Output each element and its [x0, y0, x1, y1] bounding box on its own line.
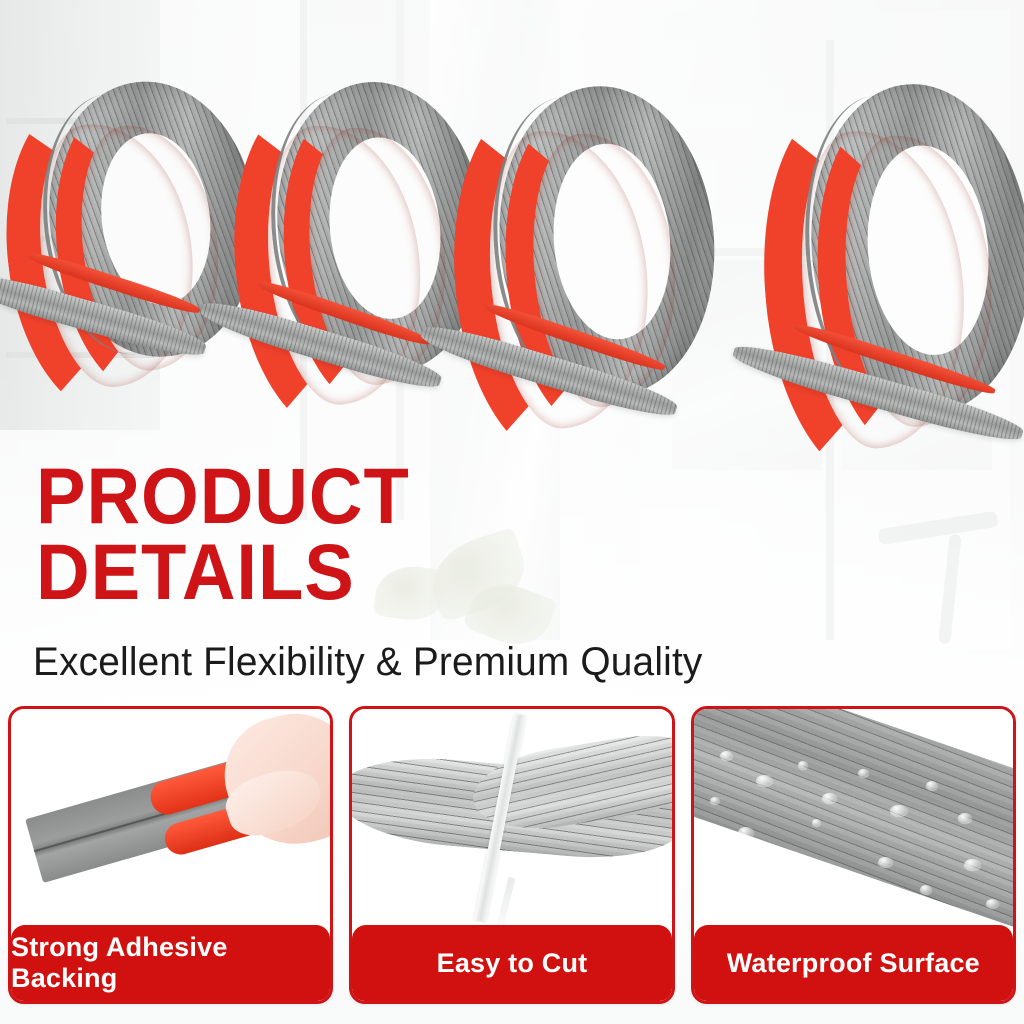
water-droplet: [958, 813, 972, 823]
water-droplet: [782, 851, 801, 863]
water-droplet: [964, 859, 981, 870]
product-details-infographic: PRODUCT DETAILS Excellent Flexibility & …: [0, 0, 1024, 1024]
water-droplet: [720, 751, 733, 760]
feature-panel-cut: Easy to Cut: [349, 706, 674, 1004]
feature-panel-adhesive: Strong Adhesive Backing: [8, 706, 333, 1004]
water-droplet: [858, 769, 869, 777]
water-droplet: [920, 885, 932, 894]
page-title: PRODUCT DETAILS: [36, 458, 638, 610]
cut-photo: [352, 709, 671, 931]
water-droplet: [798, 761, 808, 769]
tape-coils-group: [0, 0, 1024, 520]
water-droplet: [890, 805, 908, 816]
adhesive-photo: [11, 709, 330, 931]
water-droplet: [756, 775, 773, 786]
page-title-line-2: DETAILS: [36, 534, 638, 610]
water-droplet: [822, 793, 837, 803]
page-subtitle: Excellent Flexibility & Premium Quality: [33, 640, 703, 685]
water-droplet: [812, 819, 821, 826]
panel-caption-adhesive: Strong Adhesive Backing: [11, 925, 330, 1001]
water-droplet: [926, 781, 938, 790]
water-droplet: [878, 857, 893, 867]
water-droplet: [710, 797, 720, 804]
panel-caption-cut: Easy to Cut: [352, 925, 671, 1001]
blade-tip: [496, 877, 516, 931]
water-droplet: [754, 881, 765, 889]
water-droplet: [834, 869, 847, 878]
panel-caption-waterproof: Waterproof Surface: [694, 925, 1013, 1001]
water-droplet: [986, 899, 999, 908]
waterproof-photo: [694, 709, 1013, 931]
feature-panels: Strong Adhesive Backing Easy to Cut: [8, 706, 1016, 1004]
feature-panel-waterproof: Waterproof Surface: [691, 706, 1016, 1004]
water-droplet: [738, 827, 754, 838]
